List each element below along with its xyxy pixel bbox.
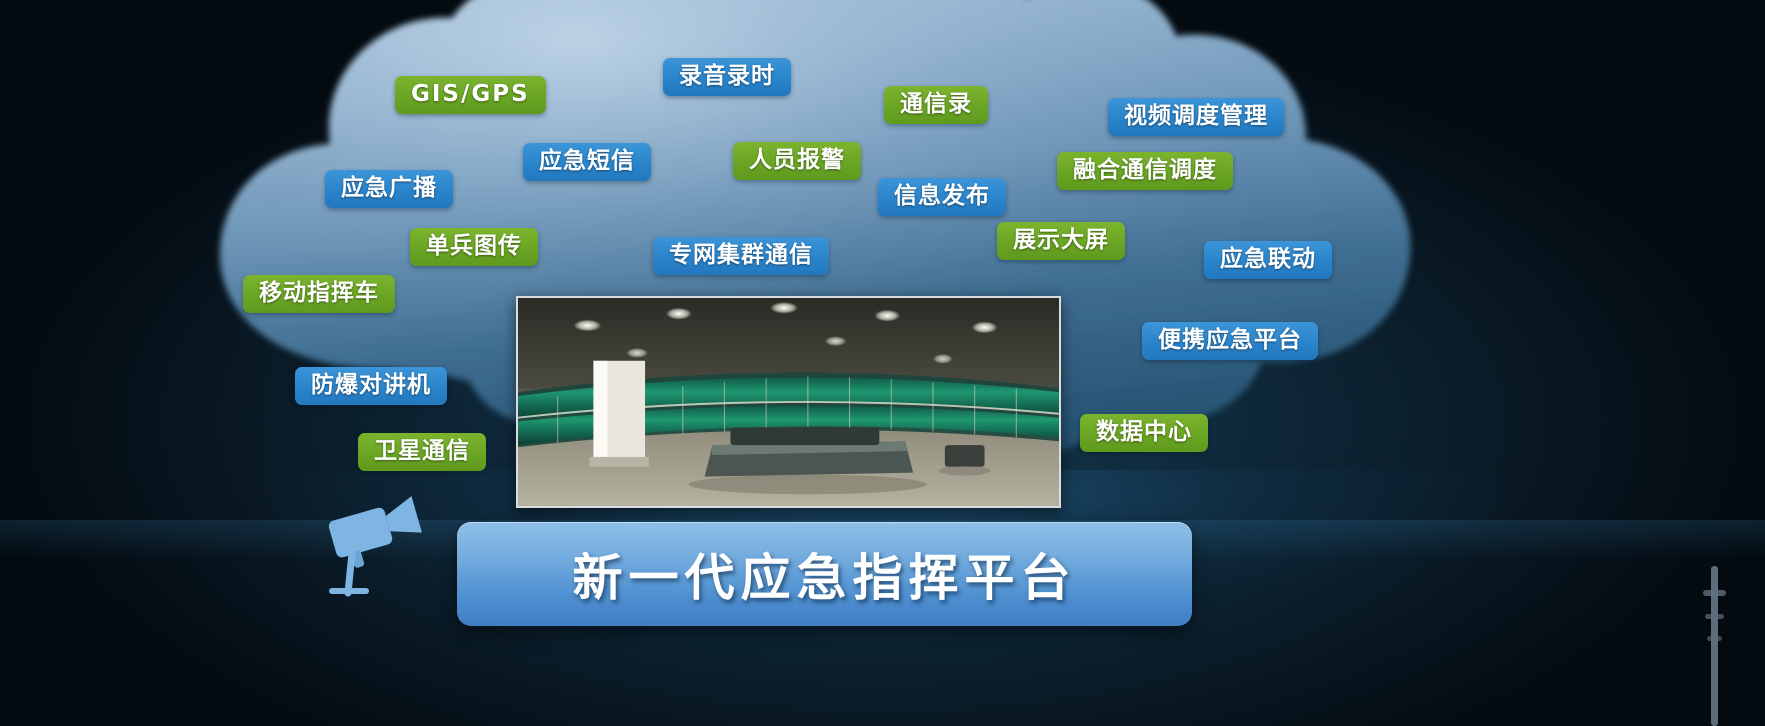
feature-chip-label: 融合通信调度 (1073, 158, 1217, 182)
feature-chip-label: 卫星通信 (374, 439, 470, 463)
feature-chip[interactable]: 展示大屏 (997, 222, 1125, 260)
feature-chip-label: 单兵图传 (426, 234, 522, 258)
antenna-pole-icon (1641, 556, 1761, 726)
feature-chip-label: 便携应急平台 (1158, 328, 1302, 352)
feature-chip-label: 移动指挥车 (259, 281, 379, 305)
feature-chip[interactable]: 通信录 (884, 86, 988, 124)
feature-chip[interactable]: 移动指挥车 (243, 275, 395, 313)
feature-chip[interactable]: 视频调度管理 (1108, 98, 1284, 136)
feature-chip[interactable]: 录音录时 (663, 58, 791, 96)
feature-chip[interactable]: 融合通信调度 (1057, 152, 1233, 190)
feature-chip[interactable]: 防爆对讲机 (295, 367, 447, 405)
feature-chip-label: 人员报警 (749, 148, 845, 172)
feature-chip-label: 防爆对讲机 (311, 373, 431, 397)
page-title: 新一代应急指挥平台 (573, 538, 1077, 610)
feature-chip-label: 应急短信 (539, 149, 635, 173)
infographic-canvas: GIS/GPS录音录时通信录视频调度管理应急短信人员报警融合通信调度应急广播信息… (0, 0, 1765, 726)
feature-chip-label: 应急联动 (1220, 247, 1316, 271)
feature-chip[interactable]: 卫星通信 (358, 433, 486, 471)
feature-chip[interactable]: 单兵图传 (410, 228, 538, 266)
feature-chip-label: 应急广播 (341, 176, 437, 200)
feature-chip[interactable]: 人员报警 (733, 142, 861, 180)
feature-chip-label: 数据中心 (1096, 420, 1192, 444)
feature-chip[interactable]: 便携应急平台 (1142, 322, 1318, 360)
platform-title-banner[interactable]: 新一代应急指挥平台 (457, 522, 1192, 626)
feature-chip-label: 录音录时 (679, 64, 775, 88)
cctv-camera-icon (318, 487, 448, 599)
feature-chip[interactable]: 专网集群通信 (653, 237, 829, 275)
feature-chip[interactable]: 数据中心 (1080, 414, 1208, 452)
command-center-photo (516, 296, 1061, 508)
feature-chip[interactable]: 信息发布 (878, 178, 1006, 216)
feature-chip-label: 展示大屏 (1013, 228, 1109, 252)
feature-chip[interactable]: GIS/GPS (395, 76, 546, 114)
feature-chip[interactable]: 应急联动 (1204, 241, 1332, 279)
feature-chip-label: GIS/GPS (411, 82, 530, 106)
feature-chip-label: 通信录 (900, 92, 972, 116)
feature-chip[interactable]: 应急短信 (523, 143, 651, 181)
feature-chip-label: 信息发布 (894, 184, 990, 208)
feature-chip[interactable]: 应急广播 (325, 170, 453, 208)
feature-chip-label: 专网集群通信 (669, 243, 813, 267)
feature-chip-label: 视频调度管理 (1124, 104, 1268, 128)
